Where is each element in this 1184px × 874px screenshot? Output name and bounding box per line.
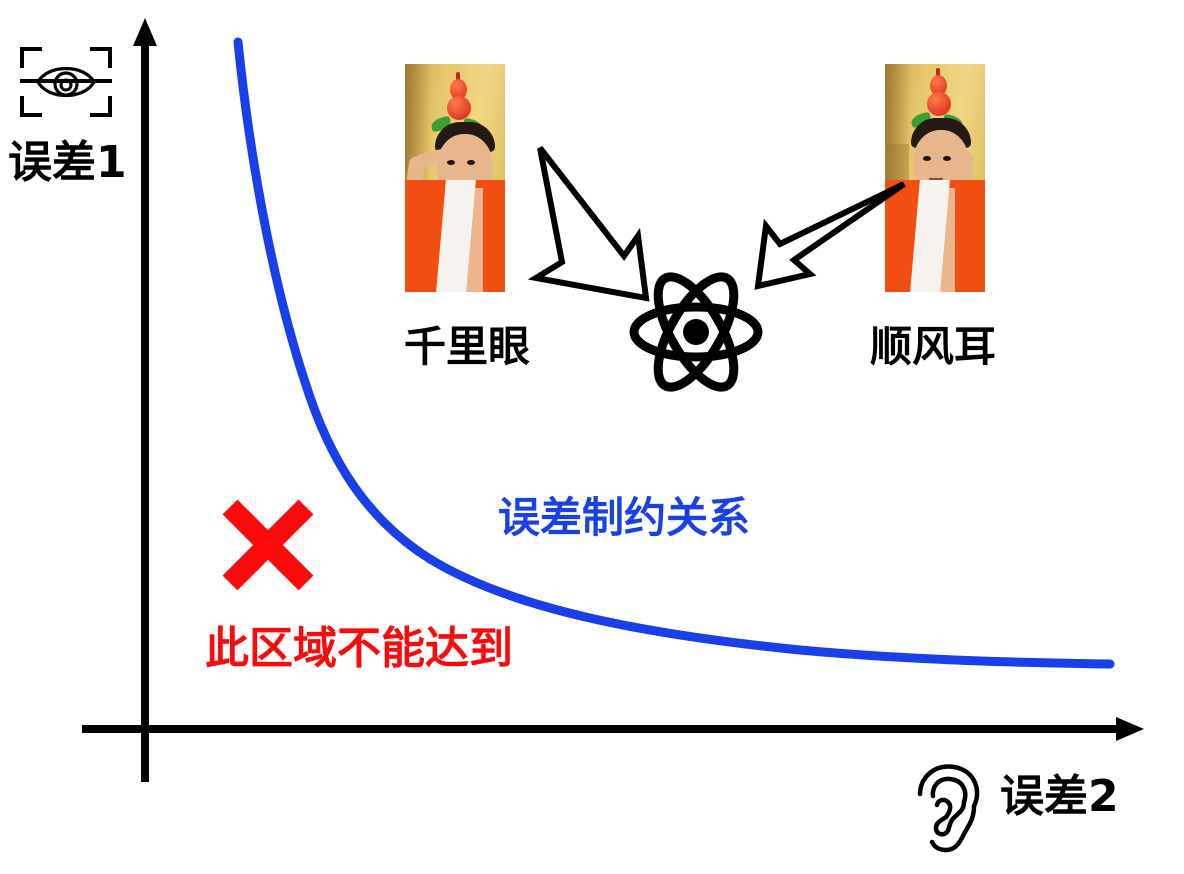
curve-label: 误差制约关系 <box>498 497 750 539</box>
eye-left <box>923 156 931 161</box>
x-axis-label: 误差2 <box>1000 775 1119 819</box>
ear-icon <box>912 762 990 854</box>
gourd-bottom <box>447 96 471 120</box>
eye-left <box>447 160 455 165</box>
arrow-right-to-atom-icon <box>752 182 912 298</box>
red-x-mark-icon <box>218 495 318 595</box>
eye-right <box>943 156 951 161</box>
x-axis-arrowhead <box>1116 717 1144 741</box>
eye-scanner-icon <box>18 44 114 120</box>
eye-right <box>467 160 475 165</box>
gourd-bottom <box>927 92 951 116</box>
photo-qianliyan <box>405 64 505 292</box>
photo-caption-shunfenger: 顺风耳 <box>870 326 996 368</box>
y-axis-label: 误差1 <box>8 141 127 185</box>
forbidden-region-label: 此区域不能达到 <box>205 627 513 671</box>
photo-caption-qianliyan: 千里眼 <box>404 326 530 368</box>
atom-icon <box>628 272 764 392</box>
diagram-canvas: 误差1 误差2 <box>0 0 1184 874</box>
y-axis-arrowhead <box>133 18 157 46</box>
